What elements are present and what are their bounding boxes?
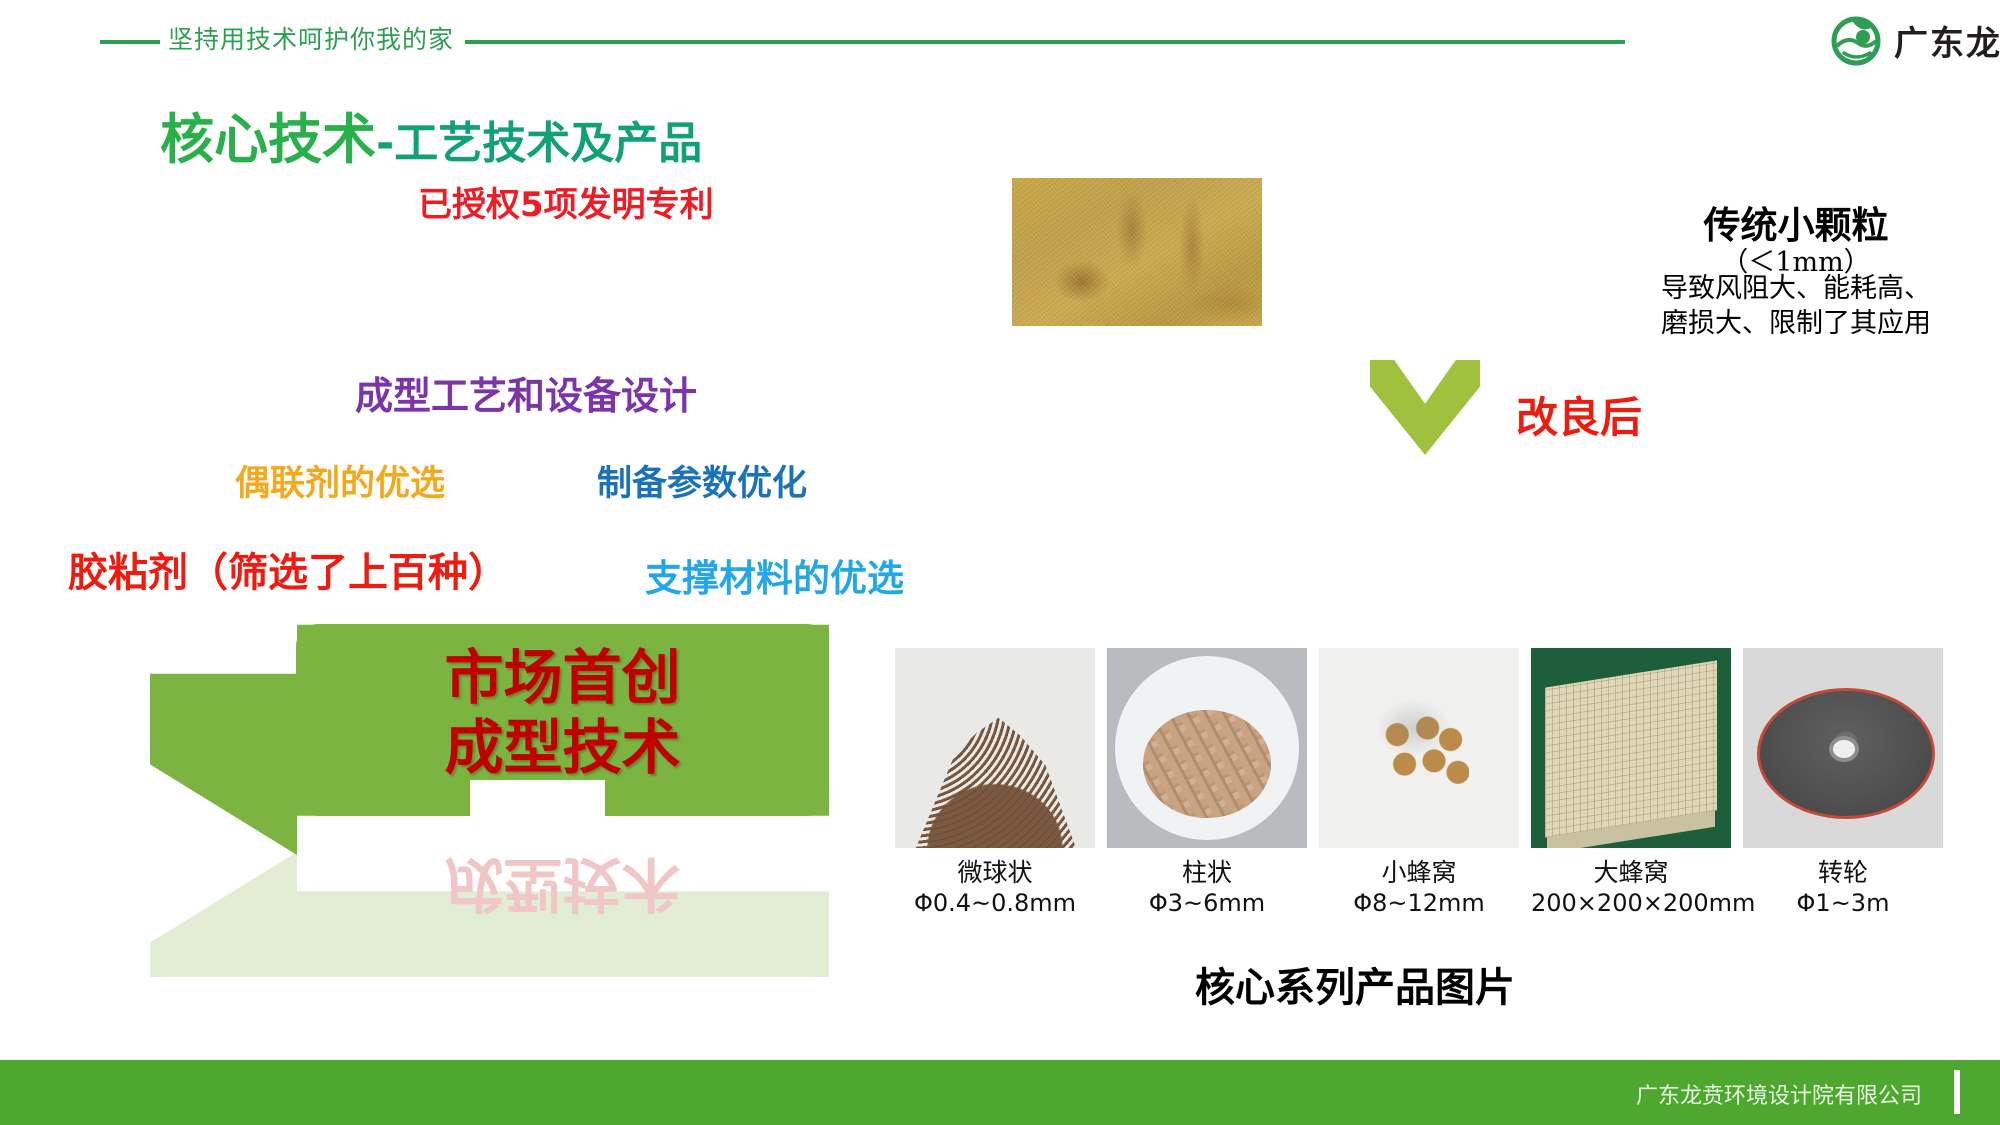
product-caption: 小蜂窝 Φ8~12mm — [1319, 858, 1519, 918]
keyword-molding-process: 成型工艺和设备设计 — [355, 365, 697, 420]
traditional-description: 导致风阻大、能耗高、 磨损大、限制了其应用 — [1596, 272, 1996, 341]
product-size: 200×200×200mm — [1531, 889, 1731, 918]
page-title: 核心技术-工艺技术及产品 — [160, 95, 702, 174]
page-header: 坚持用技术呵护你我的家 广东龙贲 — [0, 0, 2000, 78]
header-rule-left — [100, 40, 160, 44]
product-card: 微球状 Φ0.4~0.8mm — [895, 648, 1095, 918]
product-name: 小蜂窝 — [1319, 858, 1519, 889]
rotor-wheel-photo — [1743, 648, 1943, 848]
large-honeycomb-block-photo — [1531, 648, 1731, 848]
small-honeycomb-photo — [1319, 648, 1519, 848]
product-caption: 柱状 Φ3~6mm — [1107, 858, 1307, 918]
product-card: 柱状 Φ3~6mm — [1107, 648, 1307, 918]
footer-accent-bar — [1954, 1070, 1960, 1114]
product-caption: 大蜂窝 200×200×200mm — [1531, 858, 1731, 918]
microsphere-granules-photo — [895, 648, 1095, 848]
cylindrical-pellets-photo — [1107, 648, 1307, 848]
traditional-small-particle-photo — [1012, 178, 1262, 326]
product-gallery: 微球状 Φ0.4~0.8mm 柱状 Φ3~6mm 小蜂窝 Φ8~12mm 大蜂窝… — [895, 648, 1980, 918]
keyword-adhesive: 胶粘剂（筛选了上百种） — [68, 540, 508, 598]
header-slogan: 坚持用技术呵护你我的家 — [168, 20, 454, 56]
circular-leaf-hand-emblem-icon — [1828, 12, 1884, 68]
product-size: Φ0.4~0.8mm — [895, 889, 1095, 918]
chevron-down-icon — [1370, 360, 1480, 455]
page-title-primary: 核心技术 — [160, 108, 376, 171]
banner-reflection: 成型技术 — [150, 852, 850, 977]
banner-text: 市场首创 成型技术 — [296, 628, 829, 798]
improved-label: 改良后 — [1516, 384, 1642, 445]
product-name: 微球状 — [895, 858, 1095, 889]
banner-reflection-text: 成型技术 — [296, 852, 829, 919]
logo-wordmark: 广东龙贲 — [1894, 16, 2000, 65]
keyword-support-material: 支撑材料的优选 — [645, 548, 904, 602]
product-card: 转轮 Φ1~3m — [1743, 648, 1943, 918]
company-logo: 广东龙贲 — [1828, 12, 2000, 68]
product-size: Φ1~3m — [1743, 889, 1943, 918]
product-caption: 转轮 Φ1~3m — [1743, 858, 1943, 918]
traditional-description-line-2: 磨损大、限制了其应用 — [1596, 307, 1996, 342]
banner-line-2: 成型技术 — [444, 713, 680, 783]
product-name: 柱状 — [1107, 858, 1307, 889]
product-size: Φ3~6mm — [1107, 889, 1307, 918]
banner-line-1: 市场首创 — [444, 643, 680, 713]
product-card: 大蜂窝 200×200×200mm — [1531, 648, 1731, 918]
header-rule-right — [465, 40, 1625, 44]
product-gallery-title: 核心系列产品图片 — [1195, 955, 1515, 1013]
market-first-banner: 市场首创 成型技术 — [150, 610, 850, 855]
keyword-coupling-agent: 偶联剂的优选 — [235, 455, 445, 506]
product-name: 转轮 — [1743, 858, 1943, 889]
traditional-description-line-1: 导致风阻大、能耗高、 — [1596, 272, 1996, 307]
product-size: Φ8~12mm — [1319, 889, 1519, 918]
page-title-secondary: -工艺技术及产品 — [376, 118, 702, 169]
product-caption: 微球状 Φ0.4~0.8mm — [895, 858, 1095, 918]
footer-company-name: 广东龙贲环境设计院有限公司 — [1636, 1078, 1922, 1110]
patent-subtitle: 已授权5项发明专利 — [418, 177, 714, 226]
product-name: 大蜂窝 — [1531, 858, 1731, 889]
product-card: 小蜂窝 Φ8~12mm — [1319, 648, 1519, 918]
keyword-parameter-optimization: 制备参数优化 — [597, 455, 807, 506]
